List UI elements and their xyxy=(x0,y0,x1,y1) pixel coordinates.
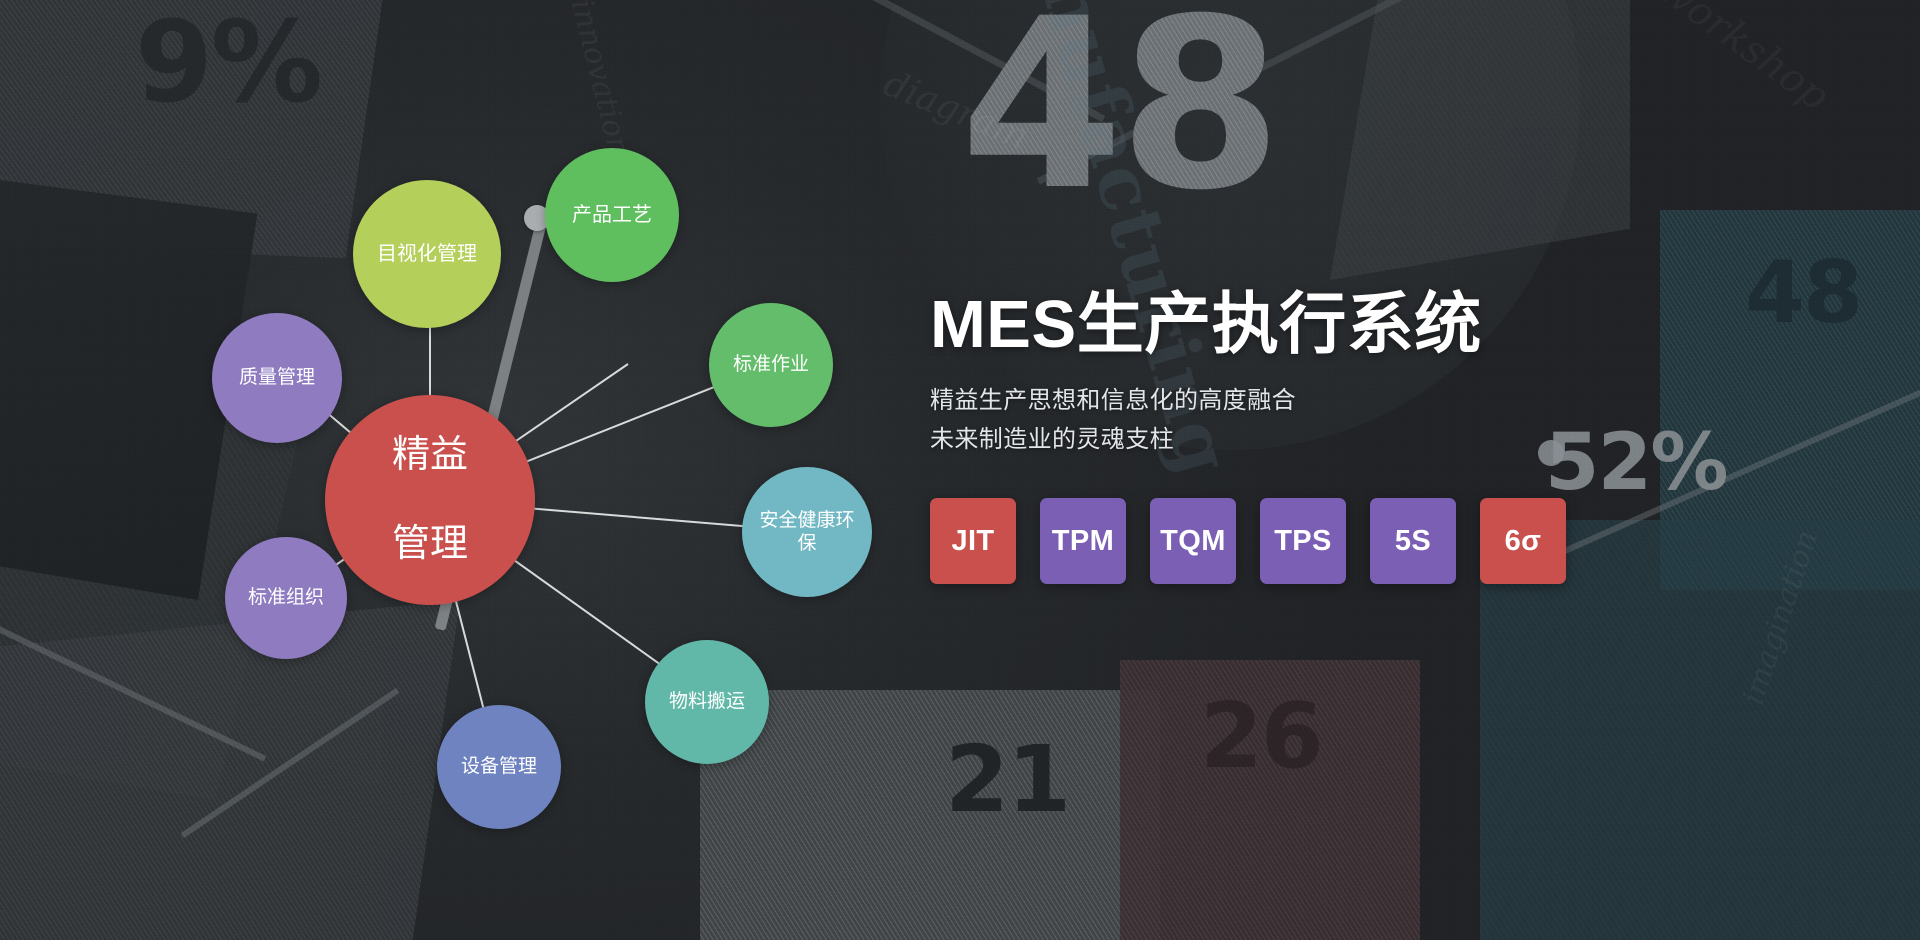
mindmap-node-standard-work[interactable]: 标准作业 xyxy=(709,303,833,427)
badge-tps[interactable]: TPS xyxy=(1260,498,1346,584)
mindmap: 精益 管理 目视化管理 产品工艺 质量管理 标准作业 标准组织 安全健康环保 xyxy=(0,0,980,940)
mindmap-node-label: 标准作业 xyxy=(733,353,809,376)
mindmap-node-visual-management[interactable]: 目视化管理 xyxy=(353,180,501,328)
mindmap-hub[interactable]: 精益 管理 xyxy=(325,395,535,605)
banner-subtitle-line2: 未来制造业的灵魂支柱 xyxy=(930,421,1890,460)
banner-content: MES生产执行系统 精益生产思想和信息化的高度融合 未来制造业的灵魂支柱 JIT… xyxy=(930,290,1890,584)
mindmap-node-label: 安全健康环保 xyxy=(759,509,855,555)
mes-banner: 48 9% 52% 21 26 48 diagram workshop inno… xyxy=(0,0,1920,940)
badge-6sigma[interactable]: 6σ xyxy=(1480,498,1566,584)
background-number-26: 26 xyxy=(1200,700,1322,774)
mindmap-node-safety-health-env[interactable]: 安全健康环保 xyxy=(742,467,872,597)
mindmap-node-equipment-management[interactable]: 设备管理 xyxy=(437,705,561,829)
mindmap-node-label: 质量管理 xyxy=(239,366,315,389)
mindmap-node-material-handling[interactable]: 物料搬运 xyxy=(645,640,769,764)
banner-subtitle-line1: 精益生产思想和信息化的高度融合 xyxy=(930,382,1890,421)
mindmap-node-label: 标准组织 xyxy=(248,586,324,609)
mindmap-node-label: 物料搬运 xyxy=(669,690,745,713)
mindmap-hub-label: 精益 管理 xyxy=(392,433,468,567)
badge-jit[interactable]: JIT xyxy=(930,498,1016,584)
mindmap-node-standard-org[interactable]: 标准组织 xyxy=(225,537,347,659)
mindmap-hub-line1: 精益 xyxy=(392,433,468,478)
banner-title: MES生产执行系统 xyxy=(930,290,1890,360)
mindmap-hub-line2: 管理 xyxy=(392,522,468,567)
mindmap-node-product-process[interactable]: 产品工艺 xyxy=(545,148,679,282)
methodology-badge-list: JIT TPM TQM TPS 5S 6σ xyxy=(930,498,1890,584)
mindmap-node-quality-management[interactable]: 质量管理 xyxy=(212,313,342,443)
mindmap-node-label: 产品工艺 xyxy=(572,203,652,227)
badge-5s[interactable]: 5S xyxy=(1370,498,1456,584)
badge-tpm[interactable]: TPM xyxy=(1040,498,1126,584)
mindmap-node-label: 目视化管理 xyxy=(377,242,477,266)
badge-tqm[interactable]: TQM xyxy=(1150,498,1236,584)
mindmap-node-label: 设备管理 xyxy=(461,755,537,778)
